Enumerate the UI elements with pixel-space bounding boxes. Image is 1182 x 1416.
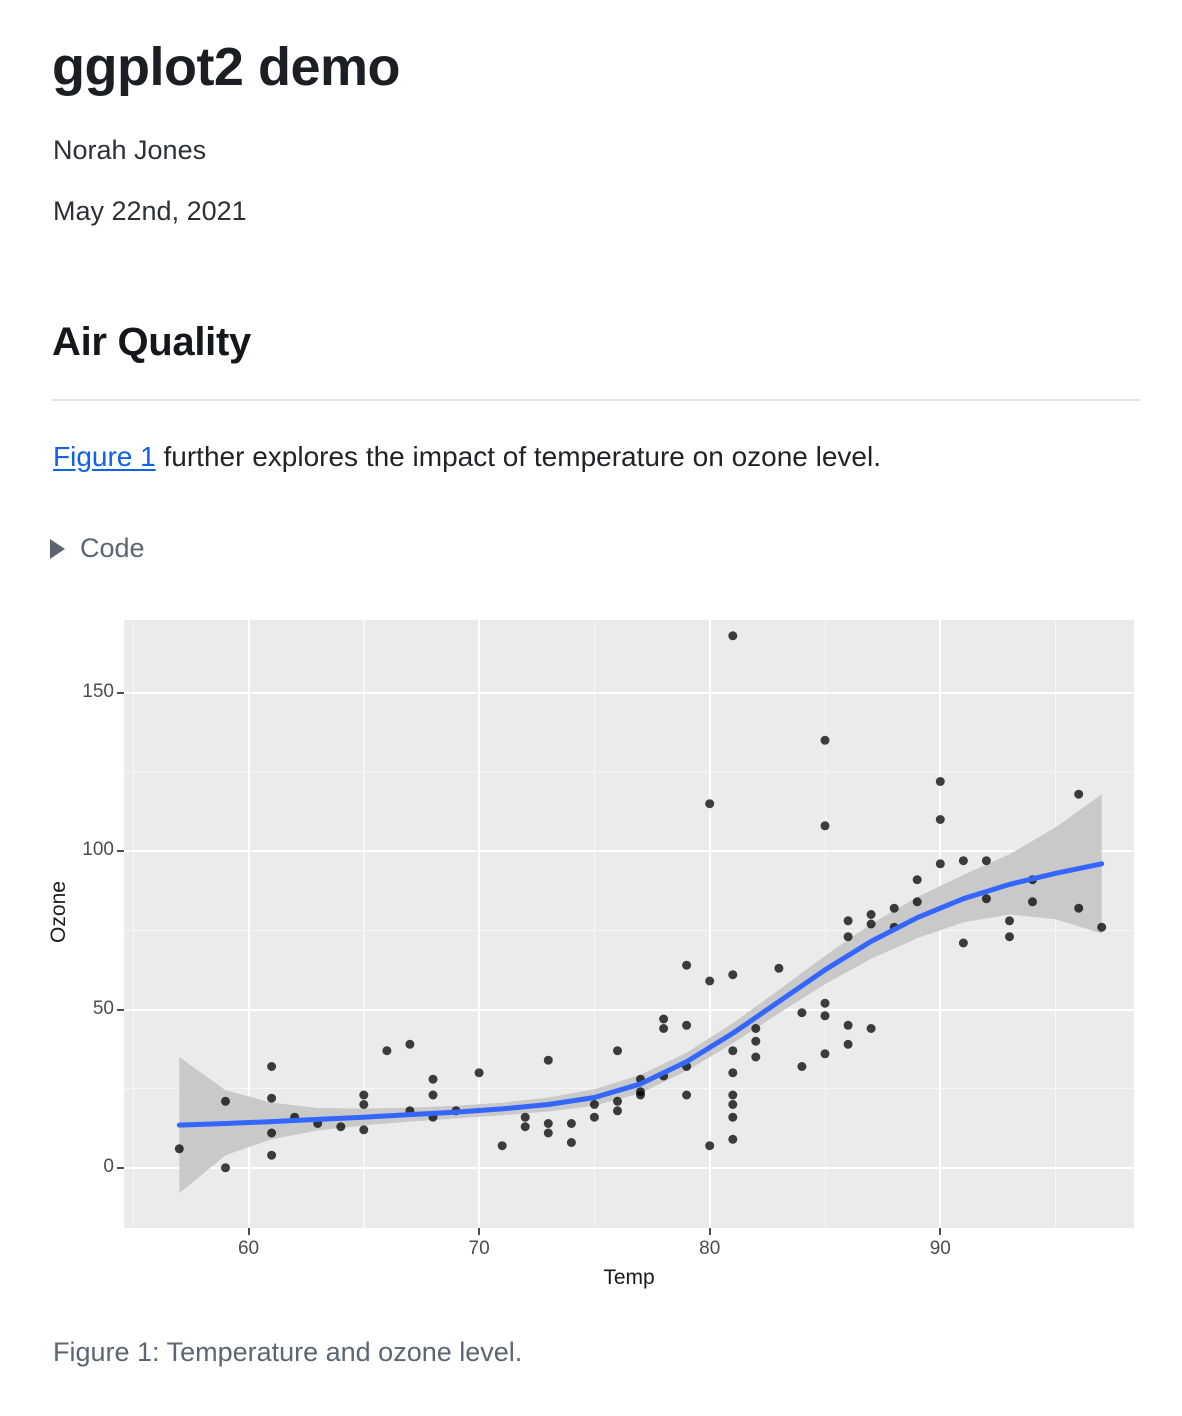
x-axis-title: Temp [124, 1266, 1134, 1290]
data-point [844, 1040, 853, 1049]
data-point [728, 1091, 737, 1100]
x-axis-tick-mark-80 [709, 1228, 711, 1235]
data-point [267, 1151, 276, 1160]
data-point [613, 1106, 622, 1115]
data-point [498, 1141, 507, 1150]
code-disclosure-toggle[interactable]: Code [50, 533, 145, 564]
data-point [728, 1100, 737, 1109]
x-axis-tick-mark-60 [248, 1228, 250, 1235]
plot-panel [124, 620, 1134, 1228]
data-point [521, 1122, 530, 1131]
data-point [728, 970, 737, 979]
data-point [567, 1119, 576, 1128]
data-point [867, 910, 876, 919]
data-point [682, 1091, 691, 1100]
x-axis-tick-mark-70 [478, 1228, 480, 1235]
ggplot-chart: 05010015060708090 Temp Ozone [52, 600, 1140, 1300]
data-point [728, 1068, 737, 1077]
y-axis-tick-label-150: 150 [52, 681, 114, 703]
data-point [705, 1141, 714, 1150]
data-point [751, 1053, 760, 1062]
document-date: May 22nd, 2021 [53, 196, 247, 227]
figure-reference-link[interactable]: Figure 1 [53, 441, 156, 472]
data-point [913, 897, 922, 906]
data-point [774, 964, 783, 973]
data-point [544, 1119, 553, 1128]
x-axis-tick-label-60: 60 [214, 1238, 284, 1260]
data-point [1028, 897, 1037, 906]
y-axis-tick-label-50: 50 [52, 998, 114, 1020]
y-axis-tick-mark-150 [117, 692, 124, 694]
data-point [590, 1113, 599, 1122]
y-axis-tick-mark-100 [117, 850, 124, 852]
data-point [382, 1046, 391, 1055]
y-axis-title: Ozone [47, 881, 71, 943]
data-point [1005, 916, 1014, 925]
section-divider [52, 399, 1140, 401]
data-point [405, 1040, 414, 1049]
data-point [821, 999, 830, 1008]
y-axis-tick-label-100: 100 [52, 839, 114, 861]
document-author: Norah Jones [53, 135, 206, 166]
data-point [544, 1129, 553, 1138]
data-point [797, 1008, 806, 1017]
data-point [821, 736, 830, 745]
data-point [682, 961, 691, 970]
figure-caption: Figure 1: Temperature and ozone level. [53, 1337, 522, 1368]
data-point [959, 856, 968, 865]
code-toggle-label: Code [80, 533, 145, 564]
paragraph-text: further explores the impact of temperatu… [156, 441, 881, 472]
data-point [751, 1024, 760, 1033]
data-point [429, 1091, 438, 1100]
data-point [267, 1062, 276, 1071]
data-point [890, 904, 899, 913]
data-point [821, 1011, 830, 1020]
x-axis-tick-mark-90 [939, 1228, 941, 1235]
data-point [267, 1129, 276, 1138]
y-axis-tick-mark-0 [117, 1167, 124, 1169]
data-point [982, 894, 991, 903]
data-point [728, 1046, 737, 1055]
figure-1: 05010015060708090 Temp Ozone [0, 600, 1182, 1300]
data-point [797, 1062, 806, 1071]
y-axis-tick-mark-50 [117, 1009, 124, 1011]
document-page: ggplot2 demo Norah Jones May 22nd, 2021 … [0, 0, 1182, 1416]
data-point [867, 920, 876, 929]
data-point [359, 1125, 368, 1134]
data-point [1005, 932, 1014, 941]
data-point [567, 1138, 576, 1147]
chart-canvas [124, 620, 1134, 1228]
data-point [221, 1097, 230, 1106]
data-point [705, 977, 714, 986]
data-point [982, 856, 991, 865]
y-axis-tick-label-0: 0 [52, 1156, 114, 1178]
confidence-band [179, 794, 1101, 1193]
data-point [221, 1163, 230, 1172]
data-point [705, 799, 714, 808]
data-point [590, 1100, 599, 1109]
x-axis-tick-label-70: 70 [444, 1238, 514, 1260]
section-heading: Air Quality [52, 320, 251, 365]
data-point [475, 1068, 484, 1077]
data-point [267, 1094, 276, 1103]
data-point [175, 1144, 184, 1153]
data-point [751, 1037, 760, 1046]
data-point [613, 1097, 622, 1106]
triangle-right-icon [50, 539, 65, 559]
data-point [544, 1056, 553, 1065]
data-point [959, 939, 968, 948]
data-point [659, 1024, 668, 1033]
data-point [359, 1100, 368, 1109]
data-point [913, 875, 922, 884]
data-point [867, 1024, 876, 1033]
x-axis-tick-label-90: 90 [905, 1238, 975, 1260]
data-point [521, 1113, 530, 1122]
x-axis-tick-label-80: 80 [675, 1238, 745, 1260]
data-point [728, 1113, 737, 1122]
data-point [821, 821, 830, 830]
data-point [1074, 904, 1083, 913]
data-point [429, 1075, 438, 1084]
data-point [728, 1135, 737, 1144]
data-point [821, 1049, 830, 1058]
data-point [1074, 790, 1083, 799]
data-point [636, 1087, 645, 1096]
data-point [936, 859, 945, 868]
body-paragraph: Figure 1 further explores the impact of … [53, 441, 881, 473]
data-point [336, 1122, 345, 1131]
data-point [359, 1091, 368, 1100]
data-point [613, 1046, 622, 1055]
data-point [936, 815, 945, 824]
data-point [728, 631, 737, 640]
data-point [844, 1021, 853, 1030]
data-point [844, 932, 853, 941]
data-point [659, 1015, 668, 1024]
data-point [844, 916, 853, 925]
data-point [682, 1021, 691, 1030]
page-title: ggplot2 demo [52, 36, 400, 98]
data-point [936, 777, 945, 786]
data-point [1097, 923, 1106, 932]
